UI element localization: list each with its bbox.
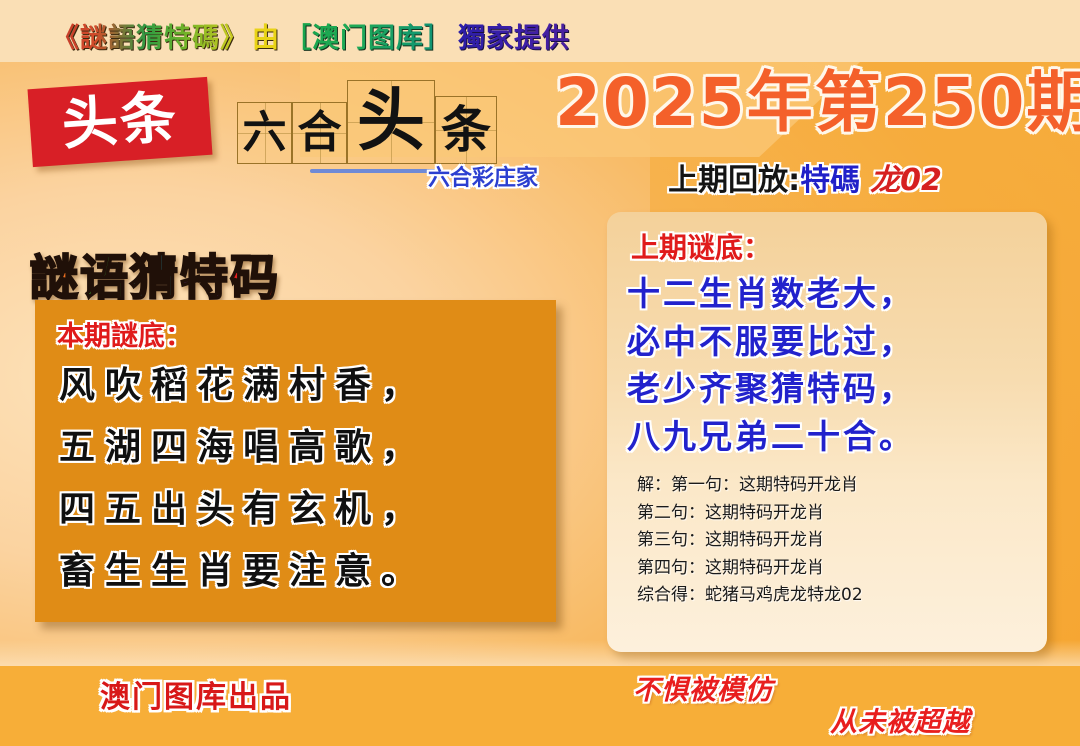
- divider-rule: [310, 169, 440, 173]
- attribution-title: 《謎語猜特碼》: [52, 16, 248, 55]
- previous-answer-poem: 十二生肖数老大， 必中不服要比过， 老少齐聚猜特码， 八九兄弟二十合。: [607, 266, 1047, 460]
- headline-stamp-label: 头条: [60, 90, 180, 154]
- riddle-line-1: 风吹稻花满村香，: [59, 355, 546, 417]
- grid-cell-2: 合: [292, 102, 347, 164]
- rainbow-char-1: 謎: [30, 238, 80, 308]
- rainbow-char-4: 特: [180, 238, 230, 308]
- poem-line-1: 十二生肖数老大，: [627, 270, 1037, 318]
- attribution-line: 《謎語猜特碼》由［澳门图库］獨家提供: [0, 16, 1080, 55]
- current-riddle-label: 本期謎底：: [35, 300, 556, 355]
- rainbow-char-3: 猜: [130, 238, 180, 308]
- footer-tagline-2: 从未被超越: [830, 700, 970, 739]
- attribution-site: ［澳门图库］: [284, 16, 452, 55]
- rainbow-char-5: 码: [230, 238, 280, 308]
- riddle-line-2: 五湖四海唱高歌，: [59, 417, 546, 479]
- explanation-line-1: 解：第一句：这期特码开龙肖: [637, 472, 1047, 500]
- grid-char-4: 条: [441, 105, 491, 155]
- poem-line-4: 八九兄弟二十合。: [627, 413, 1037, 461]
- grid-cell-3: 头: [347, 80, 435, 164]
- section-title-riddle: 謎语猜特码: [30, 238, 280, 308]
- previous-draw-value: 龙02: [870, 163, 942, 198]
- poem-line-3: 老少齐聚猜特码，: [627, 365, 1037, 413]
- rainbow-char-2: 语: [80, 238, 130, 308]
- previous-draw-label: 上期回放:: [668, 163, 800, 198]
- previous-answer-card: 上期谜底： 十二生肖数老大， 必中不服要比过， 老少齐聚猜特码， 八九兄弟二十合…: [607, 212, 1047, 652]
- explanation-line-4: 第四句：这期特码开龙肖: [637, 555, 1047, 583]
- previous-answer-explanations: 解：第一句：这期特码开龙肖 第二句：这期特码开龙肖 第三句：这期特码开龙肖 第四…: [607, 460, 1047, 610]
- current-riddle-lines: 风吹稻花满村香， 五湖四海唱高歌， 四五出头有玄机， 畜生生肖要注意。: [35, 355, 556, 603]
- current-riddle-card: 本期謎底： 风吹稻花满村香， 五湖四海唱高歌， 四五出头有玄机， 畜生生肖要注意…: [35, 300, 556, 622]
- headline-stamp: 头条: [27, 77, 212, 167]
- explanation-line-3: 第三句：这期特码开龙肖: [637, 527, 1047, 555]
- explanation-line-2: 第二句：这期特码开龙肖: [637, 500, 1047, 528]
- riddle-line-4: 畜生生肖要注意。: [59, 541, 546, 603]
- grid-char-3: 头: [357, 88, 425, 156]
- grid-char-2: 合: [298, 111, 342, 155]
- previous-draw-line: 上期回放:特碼龙02: [555, 155, 1055, 199]
- riddle-line-3: 四五出头有玄机，: [59, 479, 546, 541]
- previous-draw-type: 特碼: [800, 163, 860, 198]
- brand-slogan: 六合彩庄家: [428, 160, 538, 192]
- grid-cell-1: 六: [237, 102, 292, 164]
- brand-grid-logo: 六 合 头 条: [237, 80, 497, 164]
- previous-answer-label: 上期谜底：: [607, 212, 1047, 266]
- explanation-line-5: 综合得：蛇猪马鸡虎龙特龙02: [637, 582, 1047, 610]
- attribution-by: 由: [252, 16, 280, 55]
- issue-title: 2025年第250期: [555, 70, 1055, 136]
- attribution-exclusive: 獨家提供: [458, 16, 570, 55]
- poster-canvas: 《謎語猜特碼》由［澳门图库］獨家提供 头条 六 合 头 条 六合彩庄家 2025…: [0, 0, 1080, 746]
- grid-cell-4: 条: [435, 96, 497, 164]
- grid-char-1: 六: [243, 111, 287, 155]
- footer-tagline-1: 不惧被模仿: [633, 668, 773, 707]
- footer-brand: 澳门图库出品: [100, 672, 292, 716]
- poem-line-2: 必中不服要比过，: [627, 318, 1037, 366]
